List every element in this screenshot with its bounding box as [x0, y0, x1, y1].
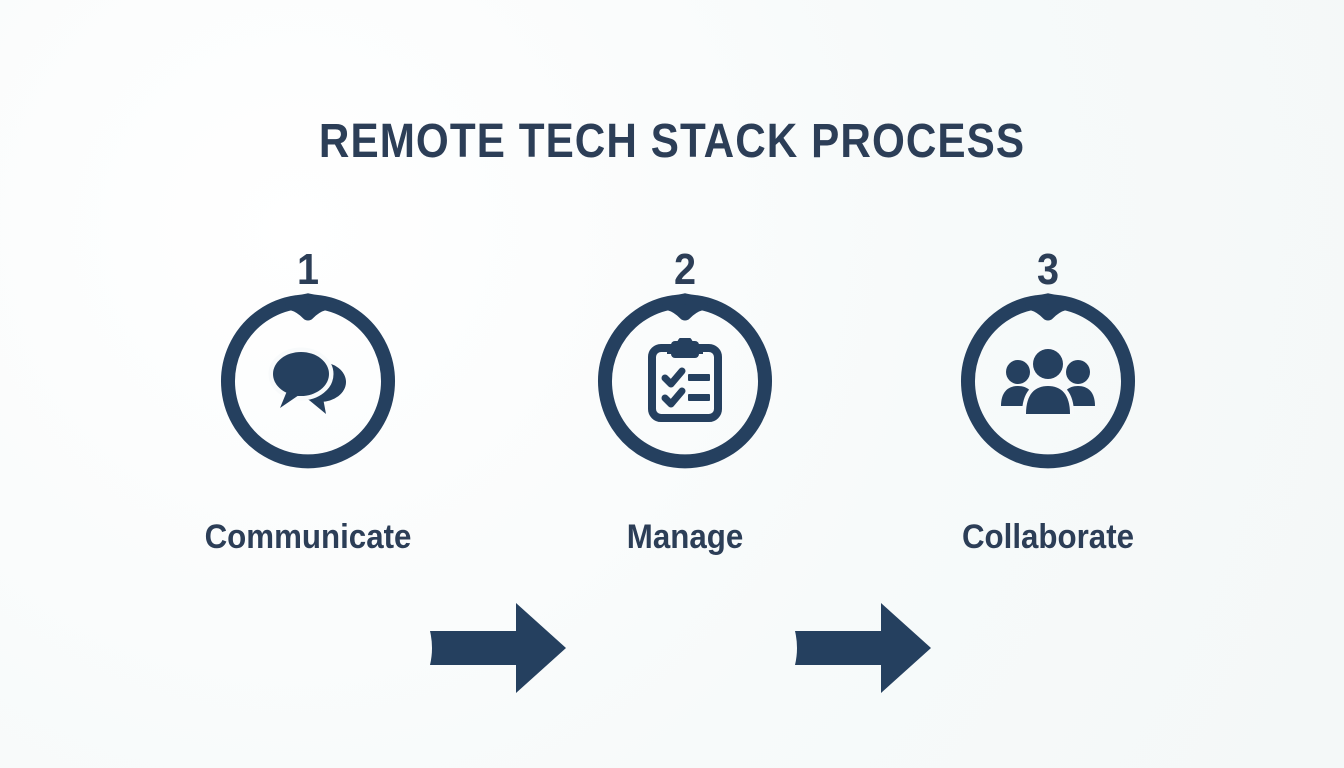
- step-label-collaborate: Collaborate: [928, 520, 1167, 554]
- process-step-manage[interactable]: 2: [555, 248, 815, 588]
- step-label-communicate: Communicate: [188, 520, 427, 554]
- infographic-canvas: REMOTE TECH STACK PROCESS 1: [0, 0, 1344, 768]
- process-steps: 1 Communicate: [0, 248, 1344, 588]
- people-group-icon: [958, 290, 1138, 470]
- page-title: REMOTE TECH STACK PROCESS: [81, 118, 1264, 166]
- process-step-communicate[interactable]: 1 Communicate: [178, 248, 438, 588]
- process-step-collaborate[interactable]: 3: [918, 248, 1178, 588]
- arrow-right-icon-2: [793, 600, 933, 696]
- speech-bubbles-icon: [218, 290, 398, 470]
- step-number-1: 1: [191, 248, 425, 292]
- step-label-manage: Manage: [565, 520, 804, 554]
- step-number-2: 2: [568, 248, 802, 292]
- arrow-right-icon-1: [428, 600, 568, 696]
- clipboard-checklist-icon: [595, 290, 775, 470]
- step-number-3: 3: [931, 248, 1165, 292]
